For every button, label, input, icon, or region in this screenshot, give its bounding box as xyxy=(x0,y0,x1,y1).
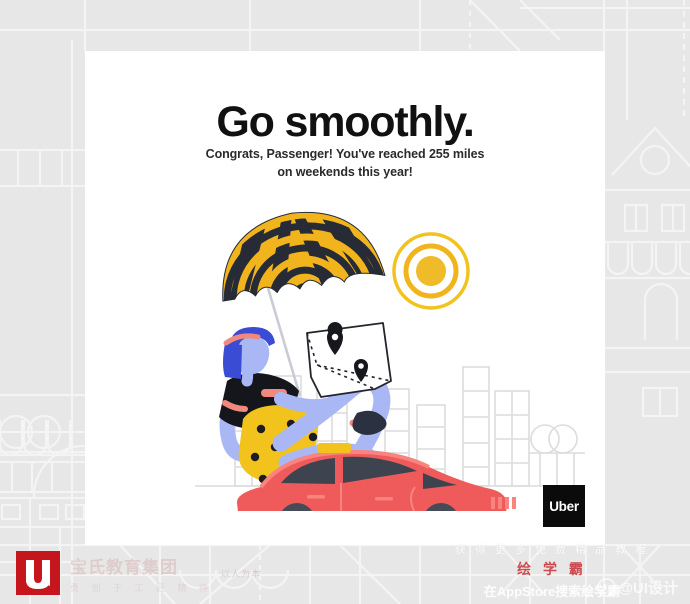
paper-map-with-pins xyxy=(307,322,391,397)
watermark-app-name: 绘 学 霸 xyxy=(422,559,682,579)
weibo-icon xyxy=(597,578,616,597)
hero-illustration xyxy=(85,191,605,511)
watermark-brand-title: 宝氏教育集团 xyxy=(70,553,213,578)
watermark-brand-tagline: 以人为本 xyxy=(221,567,261,580)
uber-logo-label: Uber xyxy=(549,499,579,514)
watermark-promo-line: 获 得 更 多 免 费 精 品 教 程 xyxy=(422,541,682,557)
sun-rings-icon xyxy=(394,234,468,308)
subheading-line-1: Congrats, Passenger! You've reached 255 … xyxy=(85,145,605,163)
weibo-handle: @UI设计 xyxy=(597,577,678,598)
uber-logo: Uber xyxy=(543,485,585,527)
watermark-left: 宝氏教育集团 勇 创 于 工 匠 精 神 以人为本 xyxy=(16,550,261,596)
w-book-logo xyxy=(16,551,60,595)
subheading: Congrats, Passenger! You've reached 255 … xyxy=(85,145,605,181)
subheading-line-2: on weekends this year! xyxy=(85,163,605,181)
screenshot-canvas: Go smoothly. Congrats, Passenger! You've… xyxy=(0,0,690,604)
weibo-handle-label: @UI设计 xyxy=(618,577,678,598)
promo-card: Go smoothly. Congrats, Passenger! You've… xyxy=(85,51,605,545)
watermark-brand-slogan: 勇 创 于 工 匠 精 神 xyxy=(70,581,213,594)
watermark-right: 获 得 更 多 免 费 精 品 教 程 绘 学 霸 在AppStore搜索绘学霸… xyxy=(422,541,682,600)
watermark-left-text: 宝氏教育集团 勇 创 于 工 匠 精 神 xyxy=(70,551,213,595)
page-title: Go smoothly. xyxy=(85,101,605,144)
